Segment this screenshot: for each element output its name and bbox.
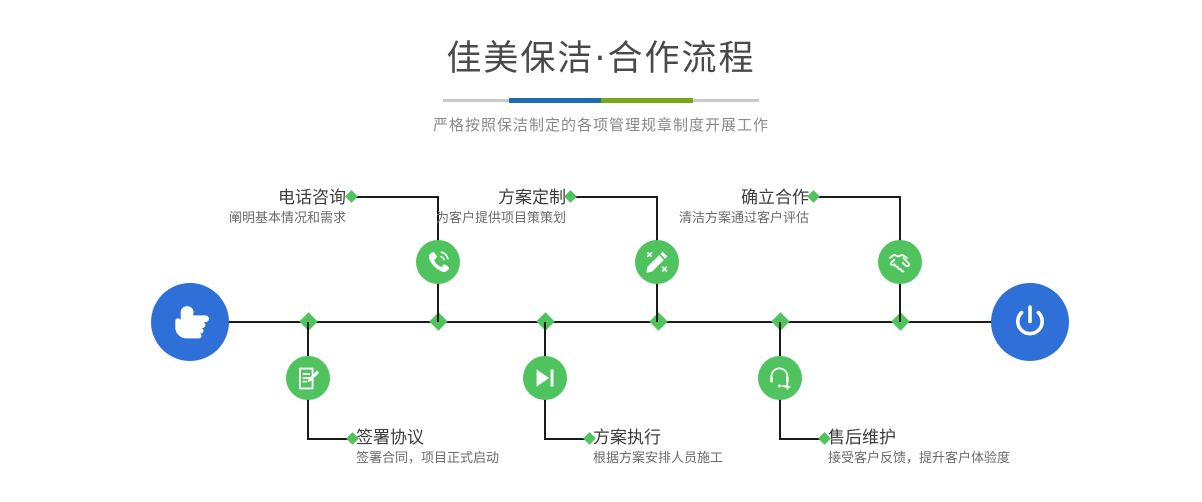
document-sign-icon xyxy=(296,366,321,391)
step-title: 电话咨询 xyxy=(150,187,346,209)
step-desc: 阐明基本情况和需求 xyxy=(150,209,346,229)
step-label-above: 方案定制 为客户提供项目策策划 xyxy=(370,187,566,229)
step-label-above: 电话咨询 阐明基本情况和需求 xyxy=(150,187,346,229)
step-icon-handshake[interactable] xyxy=(878,240,922,284)
page-subtitle: 严格按照保洁制定的各项管理规章制度开展工作 xyxy=(0,114,1202,135)
connector-tip xyxy=(564,190,577,203)
step-title: 方案定制 xyxy=(370,187,566,209)
play-forward-icon xyxy=(533,366,557,390)
divider-segment-blue xyxy=(509,98,601,103)
timeline-end-badge xyxy=(991,283,1069,361)
headset-add-icon xyxy=(767,365,793,391)
title-divider xyxy=(443,99,759,102)
step-icon-pencil-edit[interactable] xyxy=(635,240,679,284)
phone-call-icon xyxy=(425,249,451,275)
page-header: 佳美保洁·合作流程 严格按照保洁制定的各项管理规章制度开展工作 xyxy=(0,0,1202,135)
step-icon-phone-call[interactable] xyxy=(416,240,460,284)
connector-horizontal xyxy=(813,196,900,198)
step-title: 售后维护 xyxy=(828,427,1078,449)
pencil-edit-icon xyxy=(644,249,670,275)
divider-segment-green xyxy=(601,98,693,103)
step-icon-document-sign[interactable] xyxy=(286,356,330,400)
step-desc: 为客户提供项目策策划 xyxy=(370,209,566,229)
step-title: 确立合作 xyxy=(613,187,809,209)
step-desc: 签署合同，项目正式启动 xyxy=(356,449,586,469)
pointing-hand-icon xyxy=(168,302,212,342)
step-desc: 根据方案安排人员施工 xyxy=(593,449,823,469)
connector-tip xyxy=(345,190,358,203)
handshake-icon xyxy=(887,249,914,276)
flow-diagram-page: 佳美保洁·合作流程 严格按照保洁制定的各项管理规章制度开展工作 xyxy=(0,0,1202,502)
connector-tip xyxy=(807,190,820,203)
power-icon xyxy=(1008,300,1052,344)
step-icon-headset-add[interactable] xyxy=(758,356,802,400)
step-label-below: 方案执行 根据方案安排人员施工 xyxy=(593,427,823,469)
step-label-below: 售后维护 接受客户反馈，提升客户体验度 xyxy=(828,427,1078,469)
step-desc: 清洁方案通过客户评估 xyxy=(613,209,809,229)
step-label-above: 确立合作 清洁方案通过客户评估 xyxy=(613,187,809,229)
axis-marker xyxy=(649,312,667,330)
step-desc: 接受客户反馈，提升客户体验度 xyxy=(828,449,1078,469)
step-icon-play-forward[interactable] xyxy=(523,356,567,400)
page-title: 佳美保洁·合作流程 xyxy=(0,42,1202,77)
timeline-start-badge xyxy=(151,283,229,361)
step-label-below: 签署协议 签署合同，项目正式启动 xyxy=(356,427,586,469)
